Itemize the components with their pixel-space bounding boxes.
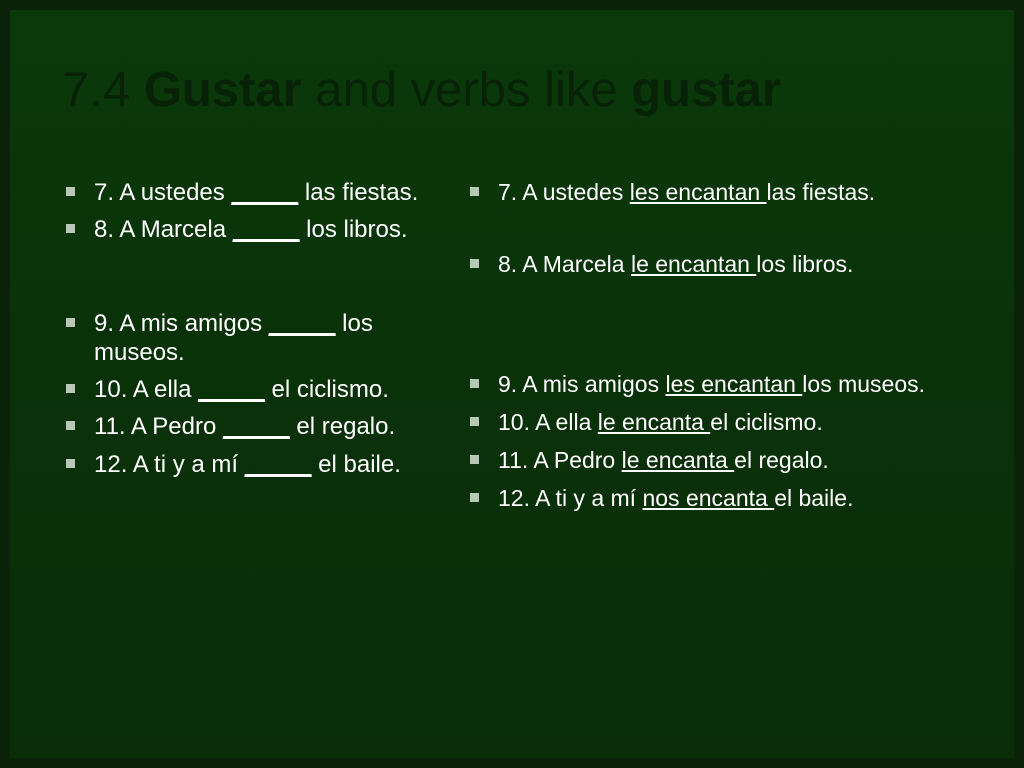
item-text-pre: 10. A ella <box>94 376 198 403</box>
item-text-pre: 12. A ti y a mí <box>94 451 245 478</box>
answer-text: le encantan <box>631 251 756 277</box>
list-item: 12. A ti y a mí nos encanta el baile. <box>462 484 1002 512</box>
bullet-square-icon <box>66 459 75 468</box>
item-text-pre: 9. A mis amigos <box>94 310 269 337</box>
item-text-post: el baile. <box>774 485 853 511</box>
spacer <box>462 288 1002 370</box>
bullet-square-icon <box>470 187 479 196</box>
left-column: 7. A ustedes _____ las fiestas. 8. A Mar… <box>58 178 458 487</box>
bullet-square-icon <box>470 455 479 464</box>
list-item: 10. A ella _____ el ciclismo. <box>58 375 458 404</box>
answer-text: nos encanta <box>642 485 774 511</box>
item-text-pre: 11. A Pedro <box>498 447 622 473</box>
answer-blank: _____ <box>269 310 336 337</box>
spacer <box>58 253 458 309</box>
list-item: 9. A mis amigos les encantan los museos. <box>462 370 1002 398</box>
item-text-post: las fiestas. <box>767 179 876 205</box>
item-text-post: las fiestas. <box>298 179 418 206</box>
item-text-post: el ciclismo. <box>710 409 822 435</box>
bullet-square-icon <box>66 318 75 327</box>
item-text-pre: 10. A ella <box>498 409 598 435</box>
item-text-post: los libros. <box>756 251 853 277</box>
title-part-number: 7.4 <box>62 63 144 117</box>
answer-text: le encanta <box>598 409 711 435</box>
item-text-post: el regalo. <box>290 413 395 440</box>
answer-text: les encantan <box>630 179 767 205</box>
page-title: 7.4 Gustar and verbs like gustar <box>62 62 972 118</box>
item-text-pre: 8. A Marcela <box>94 216 233 243</box>
bullet-square-icon <box>470 417 479 426</box>
answer-blank: _____ <box>231 179 298 206</box>
slide: 7.4 Gustar and verbs like gustar 7. A us… <box>0 0 1024 768</box>
list-item: 12. A ti y a mí _____ el baile. <box>58 450 458 479</box>
list-item: 10. A ella le encanta el ciclismo. <box>462 408 1002 436</box>
title-part-gustar-bold: Gustar <box>144 63 302 117</box>
bullet-square-icon <box>470 493 479 502</box>
list-item: 7. A ustedes _____ las fiestas. <box>58 178 458 207</box>
bullet-square-icon <box>66 421 75 430</box>
bullet-square-icon <box>66 224 75 233</box>
item-text-pre: 11. A Pedro <box>94 413 223 440</box>
title-part-gustar-bold-2: gustar <box>631 63 781 117</box>
list-item: 11. A Pedro le encanta el regalo. <box>462 446 1002 474</box>
answer-blank: _____ <box>223 413 290 440</box>
bullet-square-icon <box>470 259 479 268</box>
item-text-pre: 8. A Marcela <box>498 251 631 277</box>
item-text-post: el ciclismo. <box>265 376 389 403</box>
bullet-square-icon <box>470 379 479 388</box>
bullet-square-icon <box>66 384 75 393</box>
right-column: 7. A ustedes les encantan las fiestas. 8… <box>462 178 1002 522</box>
item-text-pre: 9. A mis amigos <box>498 371 665 397</box>
spacer <box>462 216 1002 250</box>
left-bullet-list: 7. A ustedes _____ las fiestas. 8. A Mar… <box>58 178 458 479</box>
right-bullet-list: 7. A ustedes les encantan las fiestas. 8… <box>462 178 1002 512</box>
answer-blank: _____ <box>233 216 300 243</box>
list-item: 7. A ustedes les encantan las fiestas. <box>462 178 1002 206</box>
list-item: 8. A Marcela _____ los libros. <box>58 215 458 244</box>
list-item: 9. A mis amigos _____ los museos. <box>58 309 458 368</box>
item-text-post: el baile. <box>312 451 401 478</box>
item-text-post: los museos. <box>802 371 925 397</box>
answer-blank: _____ <box>198 376 265 403</box>
item-text-pre: 12. A ti y a mí <box>498 485 642 511</box>
title-part-connector: and verbs like <box>302 63 632 117</box>
bullet-square-icon <box>66 187 75 196</box>
item-text-pre: 7. A ustedes <box>94 179 231 206</box>
answer-text: les encantan <box>665 371 802 397</box>
list-item: 11. A Pedro _____ el regalo. <box>58 412 458 441</box>
item-text-post: los libros. <box>300 216 408 243</box>
answer-blank: _____ <box>245 451 312 478</box>
item-text-post: el regalo. <box>734 447 829 473</box>
answer-text: le encanta <box>622 447 735 473</box>
item-text-pre: 7. A ustedes <box>498 179 630 205</box>
list-item: 8. A Marcela le encantan los libros. <box>462 250 1002 278</box>
